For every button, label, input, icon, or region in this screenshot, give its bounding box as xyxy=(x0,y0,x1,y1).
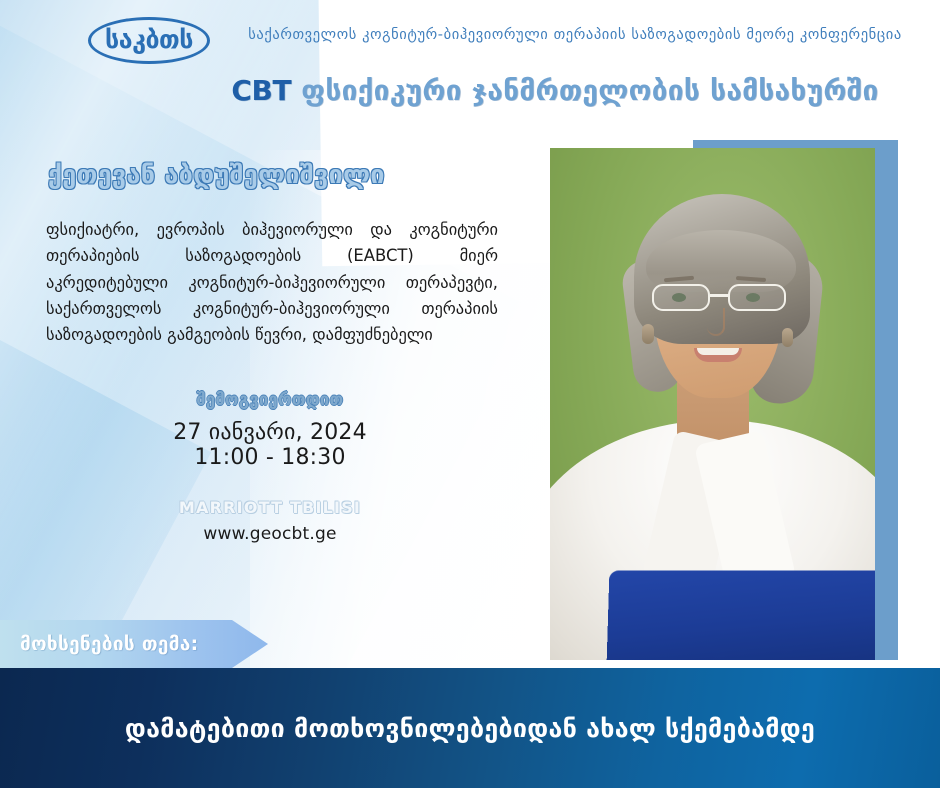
conference-title-rest: ფსიქიკური ჯანმრთელობის სამსახურში xyxy=(291,74,878,107)
event-venue: MARRIOTT TBILISI xyxy=(0,498,540,517)
topic-ribbon: მოხსენების თემა: xyxy=(0,620,268,668)
photo-earring-left xyxy=(642,324,654,344)
event-time: 11:00 - 18:30 xyxy=(0,445,540,470)
event-details: შემოგვიერთდით 27 იანვარი, 2024 11:00 - 1… xyxy=(0,390,540,544)
society-logo: საკბთს xyxy=(88,17,210,64)
event-date: 27 იანვარი, 2024 xyxy=(0,420,540,445)
conference-speaker-slide: საკბთს საქართველოს კოგნიტურ-ბიჰევიორული … xyxy=(0,0,940,788)
conference-title: CBT ფსიქიკური ჯანმრთელობის სამსახურში xyxy=(180,74,930,107)
photo-glasses-lens-left xyxy=(652,284,710,311)
photo-teeth xyxy=(697,348,739,355)
topic-ribbon-label: მოხსენების თემა: xyxy=(0,633,199,655)
slide-header: საკბთს საქართველოს კოგნიტურ-ბიჰევიორული … xyxy=(0,0,940,130)
photo-laptop xyxy=(607,571,875,660)
presentation-topic-title: დამატებითი მოთხოვნილებებიდან ახალ სქემებ… xyxy=(125,714,815,743)
photo-glasses-lens-right xyxy=(728,284,786,311)
event-website[interactable]: www.geocbt.ge xyxy=(0,524,540,544)
speaker-bio: ფსიქიატრი, ევროპის ბიჰევიორული და კოგნიტ… xyxy=(46,217,498,348)
speaker-name: ქეთევან აბდუშელიშვილი xyxy=(48,160,488,189)
photo-nose xyxy=(707,308,725,336)
society-logo-text: საკბთს xyxy=(105,27,193,52)
speaker-photo xyxy=(550,148,875,660)
photo-glasses-bridge xyxy=(710,294,730,297)
organization-line: საქართველოს კოგნიტურ-ბიჰევიორული თერაპიი… xyxy=(225,24,925,46)
photo-mouth xyxy=(694,348,742,362)
join-us-label: შემოგვიერთდით xyxy=(0,390,540,409)
topic-footer-banner: დამატებითი მოთხოვნილებებიდან ახალ სქემებ… xyxy=(0,668,940,788)
photo-earring-right xyxy=(782,328,793,347)
conference-title-prefix: CBT xyxy=(231,74,291,107)
speaker-content-column: ქეთევან აბდუშელიშვილი ფსიქიატრი, ევროპის… xyxy=(0,160,540,544)
